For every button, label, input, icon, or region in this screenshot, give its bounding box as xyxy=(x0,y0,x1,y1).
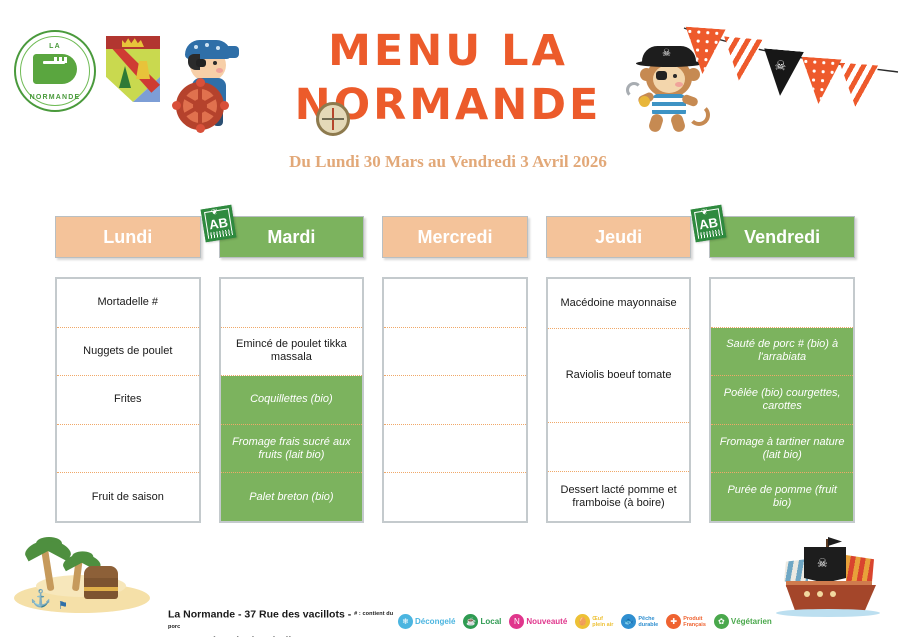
legend-icon: ✚ xyxy=(666,614,681,629)
menu-item: Raviolis boeuf tomate xyxy=(548,329,690,423)
skull-icon: ☠ xyxy=(774,57,787,74)
menu-item: Frites xyxy=(57,376,199,425)
day-header-lundi[interactable]: Lundi xyxy=(55,216,201,258)
legend-icon: ☕ xyxy=(463,614,478,629)
poster-title: MENU LA NORMANDE xyxy=(268,24,628,132)
skull-icon: ☠ xyxy=(662,49,671,59)
legend-item: ☕Local xyxy=(463,614,501,629)
poster-header: LA NORMANDE xyxy=(0,0,900,196)
legend-item: NNouveauté xyxy=(509,614,567,629)
menu-item: Macédoine mayonnaise xyxy=(548,279,690,329)
title-line-1: MENU LA xyxy=(268,24,628,78)
menu-poster: LA NORMANDE xyxy=(0,0,900,637)
poster-footer: La Normande - 37 Rue des vacillots - # :… xyxy=(0,606,900,637)
chest-lid xyxy=(84,566,118,578)
menu-item: Sauté de porc # (bio) à l'arrabiata xyxy=(711,328,853,377)
menu-cells-mercredi xyxy=(382,277,528,523)
weekly-menu-table: LundiMortadelle #Nuggets de pouletFrites… xyxy=(55,216,855,523)
treasure-chest-icon xyxy=(84,575,118,599)
legend-icon: ❄ xyxy=(398,614,413,629)
legend-item: 🐟Pêche durable xyxy=(621,614,658,629)
menu-item: Fromage frais sucré aux fruits (lait bio… xyxy=(221,425,363,474)
wheel-hub xyxy=(193,99,207,113)
monkey-tail xyxy=(688,104,710,126)
day-header-mercredi[interactable]: Mercredi xyxy=(382,216,528,258)
legend-icon: 🥚 xyxy=(575,614,590,629)
menu-item-empty xyxy=(384,279,526,328)
pirate-flag-icon xyxy=(828,537,842,546)
ship-sail-black: ☠ xyxy=(804,547,846,583)
legend-item: ❄Décongelé xyxy=(398,614,455,629)
menu-item: Palet breton (bio) xyxy=(221,473,363,521)
compass-icon xyxy=(316,102,350,136)
ab-organic-badge: ❦AB xyxy=(691,205,727,242)
legend-label: Nouveauté xyxy=(526,618,567,626)
menu-item: Poêlée (bio) courgettes, carottes xyxy=(711,376,853,425)
boy-cheek xyxy=(216,68,223,73)
legend-label: Local xyxy=(480,618,501,626)
legend-label: Pêche durable xyxy=(638,616,658,628)
day-header-mardi[interactable]: Mardi xyxy=(219,216,365,258)
menu-columns: LundiMortadelle #Nuggets de pouletFrites… xyxy=(55,216,855,523)
legend-label: Œuf plein air xyxy=(592,616,613,628)
menu-item-empty xyxy=(57,425,199,474)
date-range-subtitle: Du Lundi 30 Mars au Vendredi 3 Avril 202… xyxy=(268,152,628,172)
pirate-bunting-decoration: ☠ xyxy=(682,24,900,104)
eye-patch-icon xyxy=(656,71,667,80)
bandana-dot xyxy=(205,43,209,47)
fork-tine-icon xyxy=(54,57,57,63)
menu-item-empty xyxy=(221,279,363,328)
wheel-knob xyxy=(172,101,181,110)
menu-item: Fromage à tartiner nature (lait bio) xyxy=(711,425,853,474)
menu-item: Purée de pomme (fruit bio) xyxy=(711,473,853,521)
fork-tine-icon xyxy=(59,57,62,63)
menu-item-empty xyxy=(548,423,690,473)
compass-needle xyxy=(322,118,344,120)
menu-item-empty xyxy=(384,473,526,521)
legend-icon: 🐟 xyxy=(621,614,636,629)
fork-tine-icon xyxy=(64,57,67,63)
day-header-jeudi[interactable]: Jeudi xyxy=(546,216,692,258)
legend-label: Décongelé xyxy=(415,618,455,626)
menu-cells-mardi: Emincé de poulet tikka massalaCoquillett… xyxy=(219,277,365,523)
chest-band xyxy=(84,587,118,591)
skull-icon: ☠ xyxy=(817,556,828,570)
menu-column-mercredi: Mercredi xyxy=(382,216,528,523)
menu-column-vendredi: Vendredi❦ABSauté de porc # (bio) à l'arr… xyxy=(709,216,855,523)
hook-hand-icon xyxy=(626,82,642,98)
menu-item-empty xyxy=(384,328,526,377)
menu-cells-jeudi: Macédoine mayonnaiseRaviolis boeuf tomat… xyxy=(546,277,692,523)
address-block: La Normande - 37 Rue des vacillots - # :… xyxy=(168,608,398,637)
boy-eye xyxy=(213,61,217,65)
menu-column-mardi: Mardi❦ABEmincé de poulet tikka massalaCo… xyxy=(219,216,365,523)
legend-label: Végétarien xyxy=(731,618,772,626)
menu-item-empty xyxy=(711,279,853,328)
menu-item: Dessert lacté pomme et framboise (à boir… xyxy=(548,472,690,521)
bandana-dot xyxy=(194,45,198,49)
stamp-top-text: LA xyxy=(14,43,96,50)
treasure-island-illustration: ⚓ ⚑ xyxy=(6,527,156,617)
menu-item: Fruit de saison xyxy=(57,473,199,521)
monkey-eye xyxy=(673,74,677,78)
legend-icon: ✿ xyxy=(714,614,729,629)
eye-patch-icon xyxy=(196,59,206,67)
day-header-vendredi[interactable]: Vendredi xyxy=(709,216,855,258)
ship-portholes xyxy=(804,591,836,597)
menu-item: Emincé de poulet tikka massala xyxy=(221,328,363,377)
menu-item: Mortadelle # xyxy=(57,279,199,328)
address-line-1: La Normande - 37 Rue des vacillots - xyxy=(168,608,354,620)
gold-coin-icon xyxy=(639,96,650,107)
menu-cells-lundi: Mortadelle #Nuggets de pouletFritesFruit… xyxy=(55,277,201,523)
bandana-dot xyxy=(216,46,220,50)
legend-label: Produit Français xyxy=(683,616,706,628)
menu-item-empty xyxy=(384,376,526,425)
menu-cells-vendredi: Sauté de porc # (bio) à l'arrabiataPoêlé… xyxy=(709,277,855,523)
menu-item: Nuggets de poulet xyxy=(57,328,199,377)
legend-icons: ❄Décongelé☕LocalNNouveauté🥚Œuf plein air… xyxy=(398,614,772,629)
legend-item: ✚Produit Français xyxy=(666,614,706,629)
pirate-boy-illustration xyxy=(172,32,250,130)
menu-item-empty xyxy=(384,425,526,474)
stamp-bottom-text: NORMANDE xyxy=(14,94,96,101)
legend-item: ✿Végétarien xyxy=(714,614,772,629)
bandana-knot xyxy=(225,46,239,58)
monkey-leg xyxy=(648,113,665,134)
la-normande-logo-stamp: LA NORMANDE xyxy=(14,30,96,112)
wheel-knob xyxy=(220,101,229,110)
ab-organic-badge: ❦AB xyxy=(200,205,236,242)
menu-column-lundi: LundiMortadelle #Nuggets de pouletFrites… xyxy=(55,216,201,523)
menu-column-jeudi: JeudiMacédoine mayonnaiseRaviolis boeuf … xyxy=(546,216,692,523)
coat-of-arms-icon xyxy=(106,36,160,102)
wheel-knob xyxy=(196,78,205,87)
legend-item: 🥚Œuf plein air xyxy=(575,614,613,629)
menu-item: Coquillettes (bio) xyxy=(221,376,363,425)
legend-icon: N xyxy=(509,614,524,629)
wheel-knob xyxy=(196,124,205,133)
